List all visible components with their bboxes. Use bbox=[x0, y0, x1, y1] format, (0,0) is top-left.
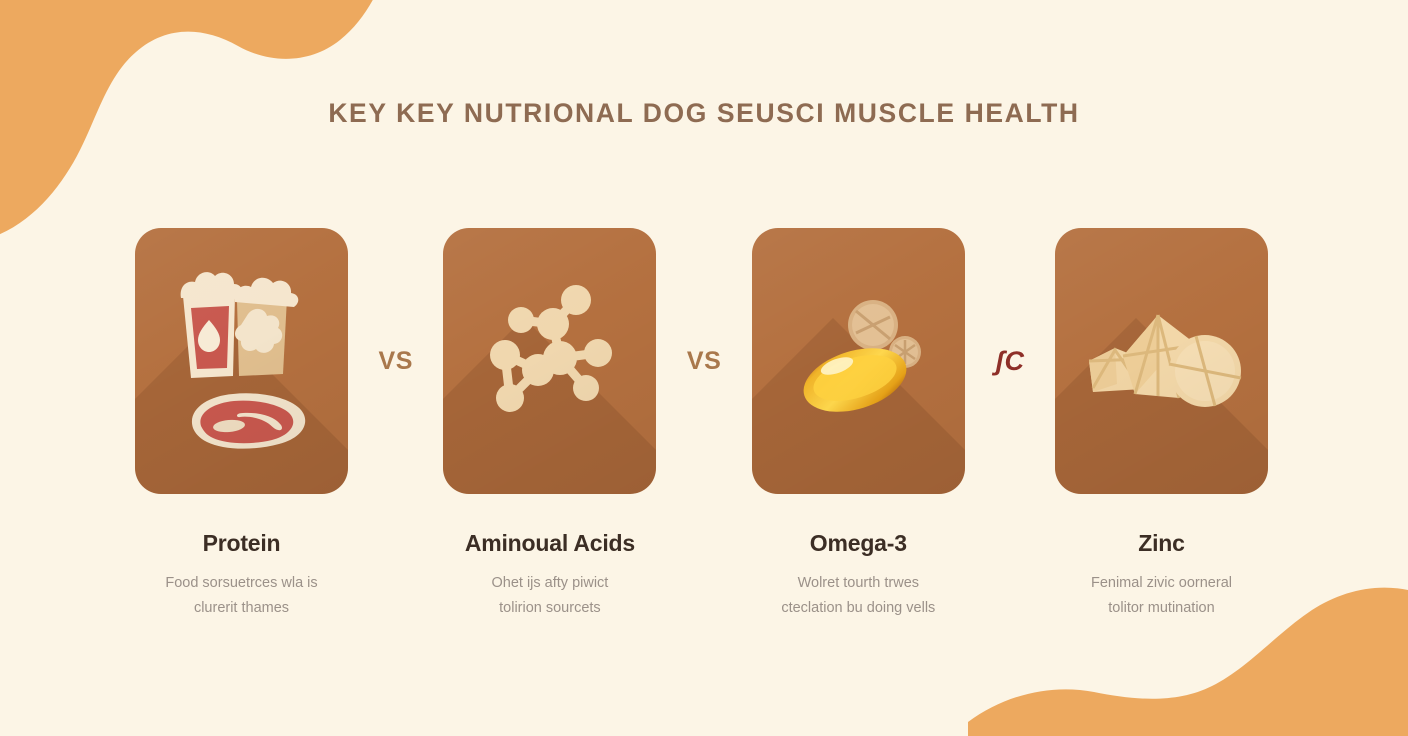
nutrient-card-protein[interactable]: Protein Food sorsuetrces wla is clurerit… bbox=[135, 228, 348, 621]
nutrient-description: Food sorsuetrces wla is clurerit thames bbox=[135, 571, 348, 621]
nutrient-card-tile[interactable] bbox=[752, 228, 965, 494]
tile-sheen bbox=[752, 228, 965, 494]
nutrient-card-amino-acids[interactable]: Aminoual Acids Ohet ijs afty piwict toli… bbox=[443, 228, 656, 621]
tile-sheen bbox=[443, 228, 656, 494]
nutrient-description: Ohet ijs afty piwict tolirion sourcets bbox=[443, 571, 656, 621]
separator-vs-2: VS bbox=[656, 228, 751, 494]
page-title: KEY KEY NUTRIONAL DOG SEUSCI MUSCLE HEAL… bbox=[0, 98, 1408, 129]
nutrient-label: Aminoual Acids bbox=[443, 530, 656, 557]
tile-sheen bbox=[135, 228, 348, 494]
nutrient-description: Fenimal zivic oorneral tolitor mutinatio… bbox=[1055, 571, 1268, 621]
tile-sheen bbox=[1055, 228, 1268, 494]
nutrient-card-tile[interactable] bbox=[443, 228, 656, 494]
nutrient-card-omega3[interactable]: Omega-3 Wolret tourth trwes cteclation b… bbox=[752, 228, 965, 621]
nutrient-card-tile[interactable] bbox=[135, 228, 348, 494]
nutrient-label: Omega-3 bbox=[752, 530, 965, 557]
separator-vs-3: ʃC bbox=[965, 228, 1055, 494]
separator-vs-1: VS bbox=[348, 228, 443, 494]
nutrient-card-row: Protein Food sorsuetrces wla is clurerit… bbox=[135, 228, 1268, 621]
nutrient-card-zinc[interactable]: Zinc Fenimal zivic oorneral tolitor muti… bbox=[1055, 228, 1268, 621]
nutrient-label: Zinc bbox=[1055, 530, 1268, 557]
nutrient-label: Protein bbox=[135, 530, 348, 557]
nutrient-card-tile[interactable] bbox=[1055, 228, 1268, 494]
nutrient-description: Wolret tourth trwes cteclation bu doing … bbox=[752, 571, 965, 621]
infographic-canvas: KEY KEY NUTRIONAL DOG SEUSCI MUSCLE HEAL… bbox=[0, 0, 1408, 736]
